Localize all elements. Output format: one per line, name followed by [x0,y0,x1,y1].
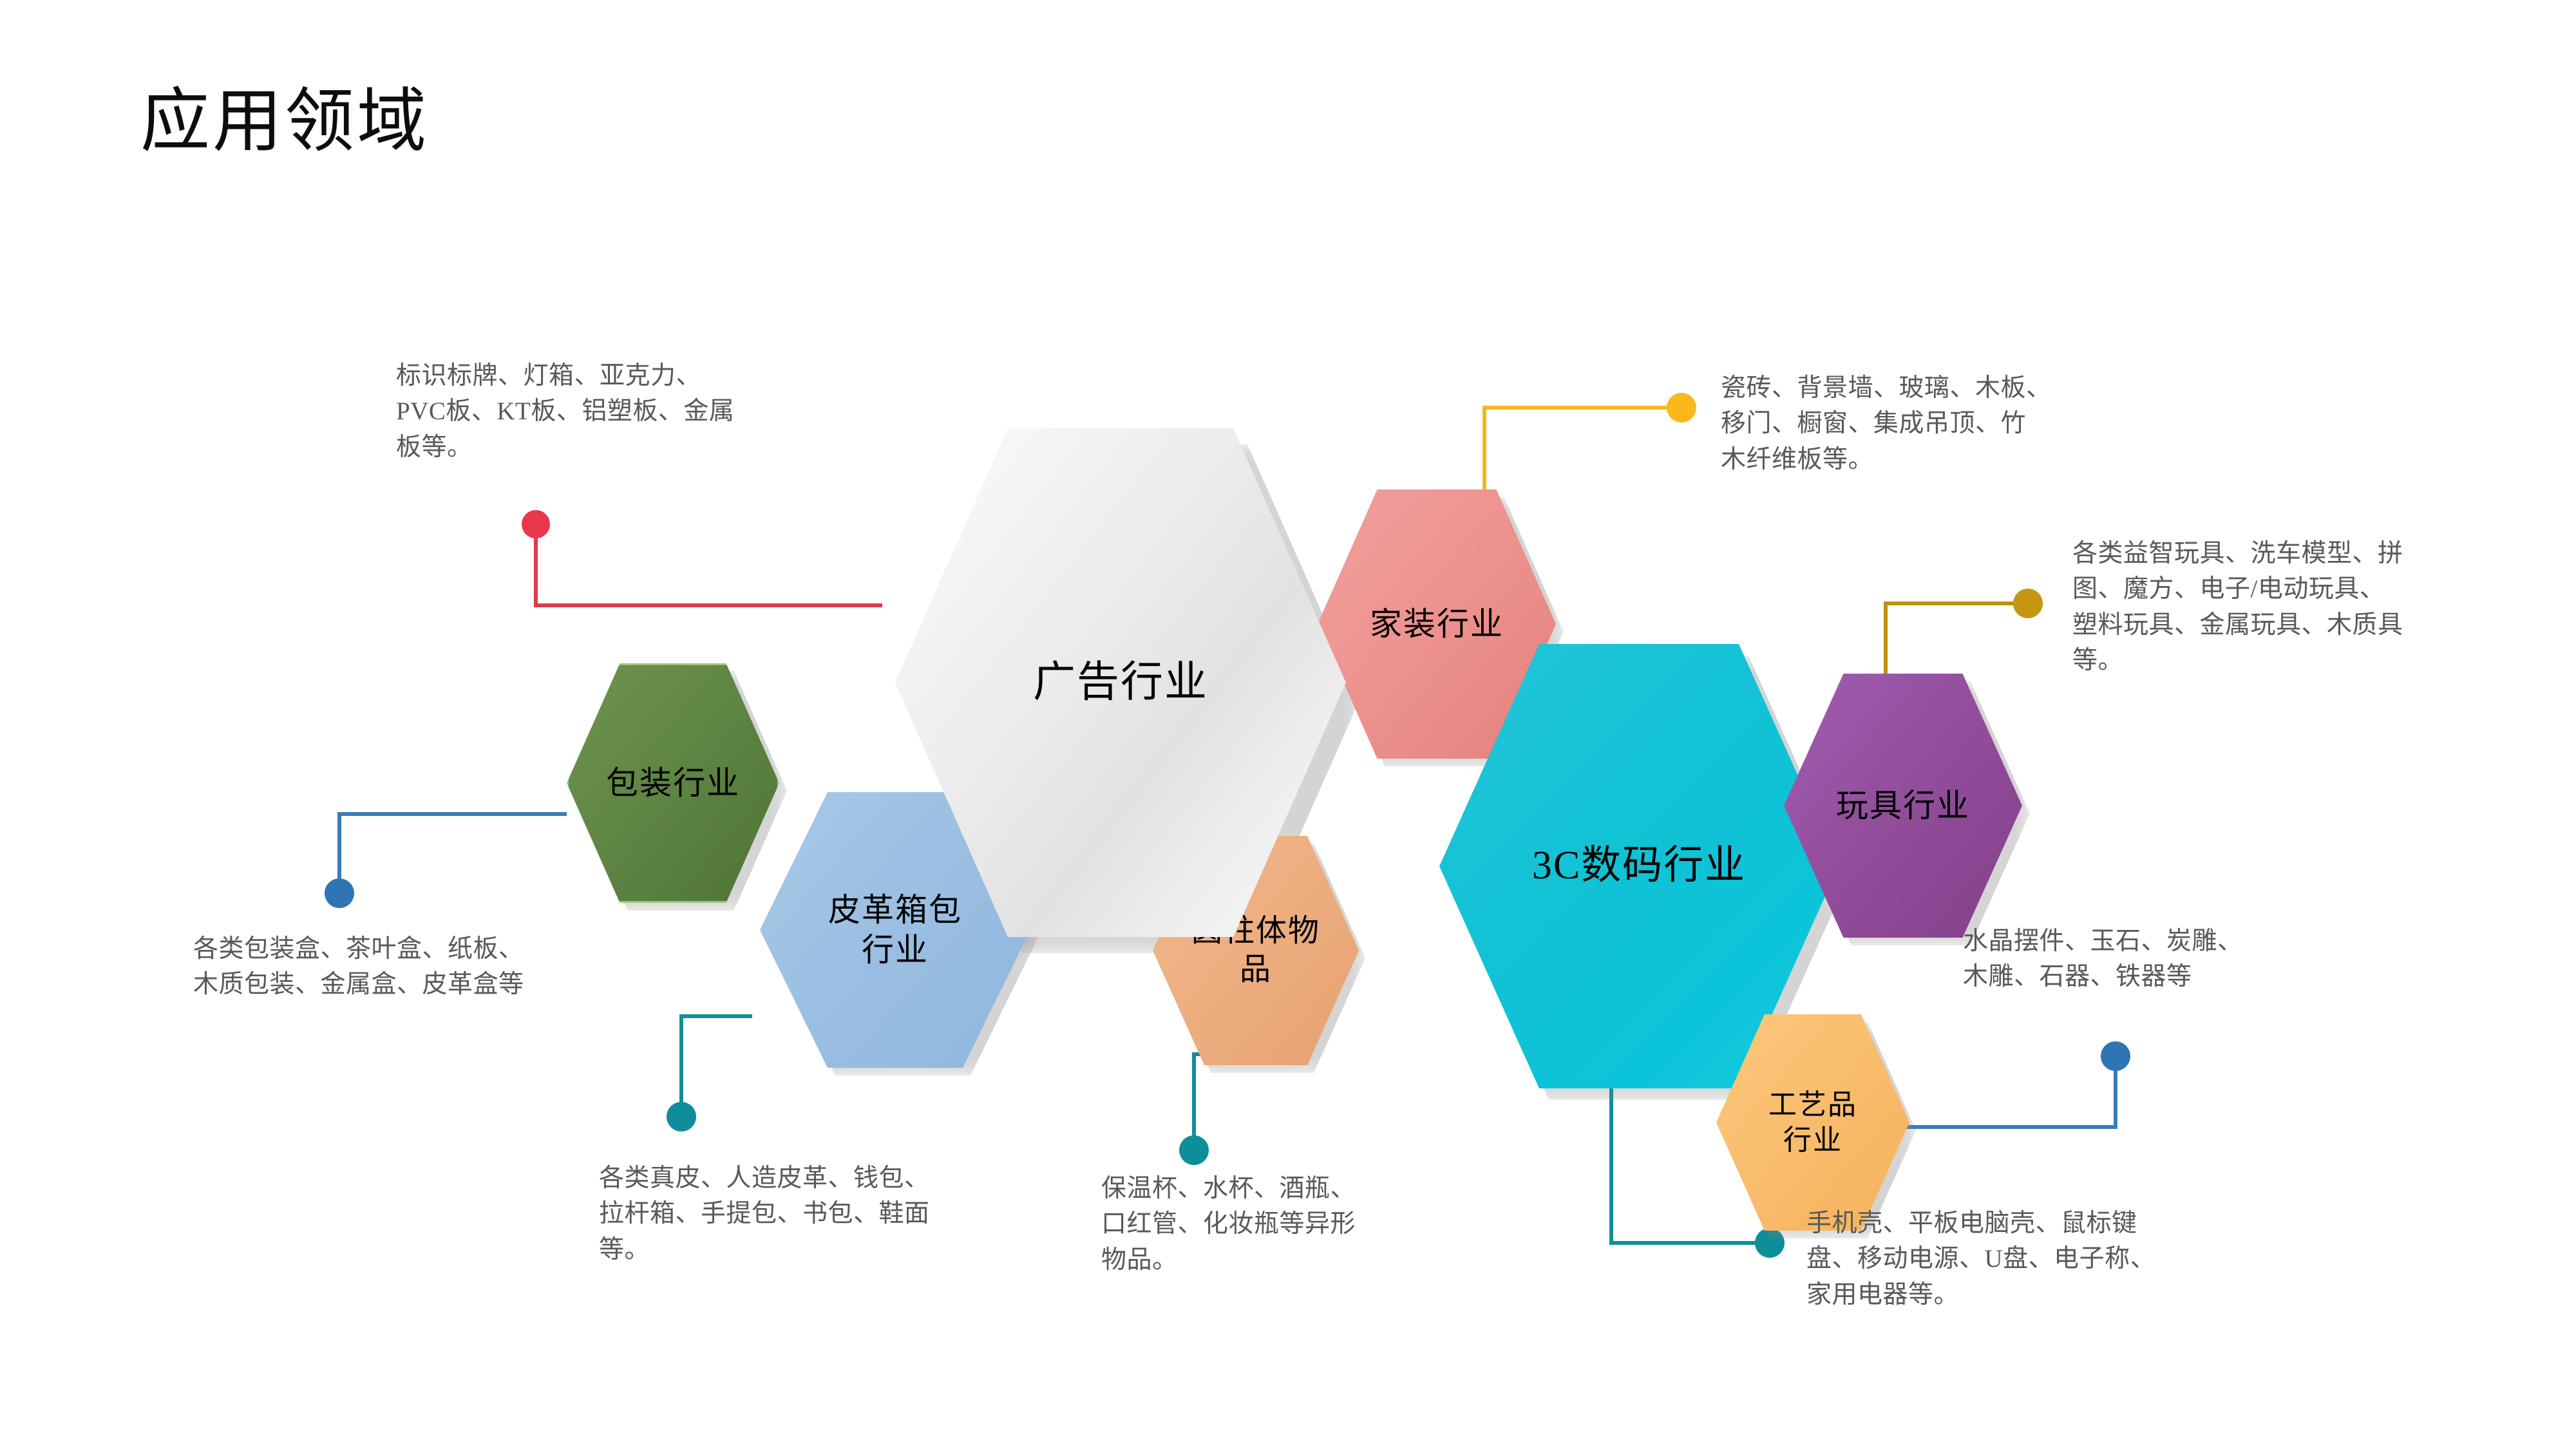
connector-dot-packaging [325,878,354,908]
slide-canvas: 应用领域 [0,0,2576,1449]
connector-home-decor [1484,393,1696,493]
hexagon-label-3c-digital: 3C数码行业 [1500,841,1778,891]
connector-dot-leather [667,1102,696,1132]
hexagon-label-leather: 皮革箱包 行业 [806,890,983,971]
connector-advertising [522,510,882,605]
description-crystal: 水晶摆件、玉石、炭雕、 木雕、石器、铁器等 [1963,923,2388,995]
connector-dot-home-decor [1667,393,1696,422]
description-toys: 各类益智玩具、洗车模型、拼 图、魔方、电子/电动玩具、 塑料玩具、金属玩具、木质… [2072,536,2504,679]
description-leather: 各类真皮、人造皮革、钱包、 拉杆箱、手提包、书包、鞋面 等。 [599,1160,1024,1267]
description-cylinder: 保温杯、水杯、酒瓶、 口红管、化妆瓶等异形 物品。 [1101,1171,1449,1278]
connector-leather [667,1016,752,1132]
hexagon-label-home-decor: 家装行业 [1350,604,1522,645]
hexagon-label-toys: 玩具行业 [1817,786,1989,826]
hexagon-label-advertising: 广告行业 [997,656,1244,710]
connector-dot-toys [2013,589,2043,618]
description-packaging: 各类包装盒、茶叶盒、纸板、 木质包装、金属盒、皮革盒等 [193,931,670,1003]
connector-dot-crystal [2101,1041,2130,1071]
connector-dot-cylinder [1179,1135,1209,1165]
description-home-decor: 瓷砖、背景墙、玻璃、木板、 移门、橱窗、集成吊顶、竹 木纤维板等。 [1721,370,2146,477]
description-3c-digital: 手机壳、平板电脑壳、鼠标键 盘、移动电源、U盘、电子称、 家用电器等。 [1806,1206,2251,1312]
connector-packaging [325,814,567,908]
hexagon-label-crafts: 工艺品 行业 [1753,1087,1873,1158]
connector-dot-advertising [522,510,550,538]
hexagon-label-packaging: 包装行业 [589,763,757,804]
description-advertising: 标识标牌、灯箱、亚克力、 PVC板、KT板、铝塑板、金属 板等。 [396,358,821,465]
connector-cylinder [1179,1054,1211,1165]
